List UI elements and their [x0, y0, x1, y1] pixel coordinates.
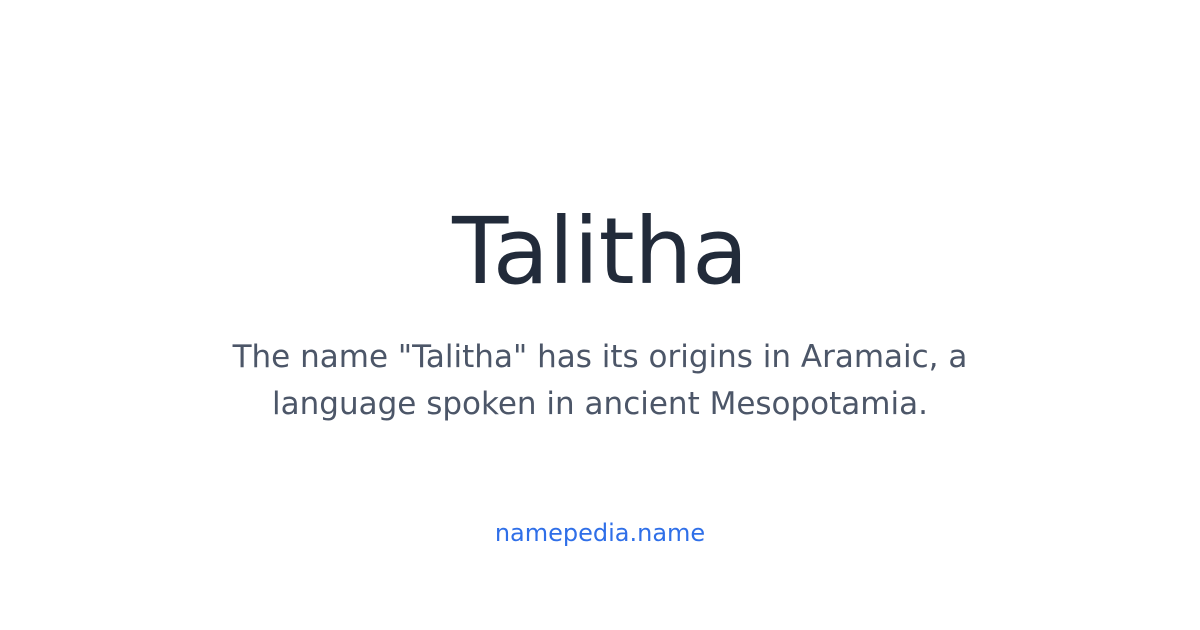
name-info-card: Talitha The name "Talitha" has its origi…	[0, 0, 1200, 630]
site-link[interactable]: namepedia.name	[0, 518, 1200, 548]
name-description: The name "Talitha" has its origins in Ar…	[160, 334, 1040, 428]
page-title: Talitha	[0, 206, 1200, 298]
